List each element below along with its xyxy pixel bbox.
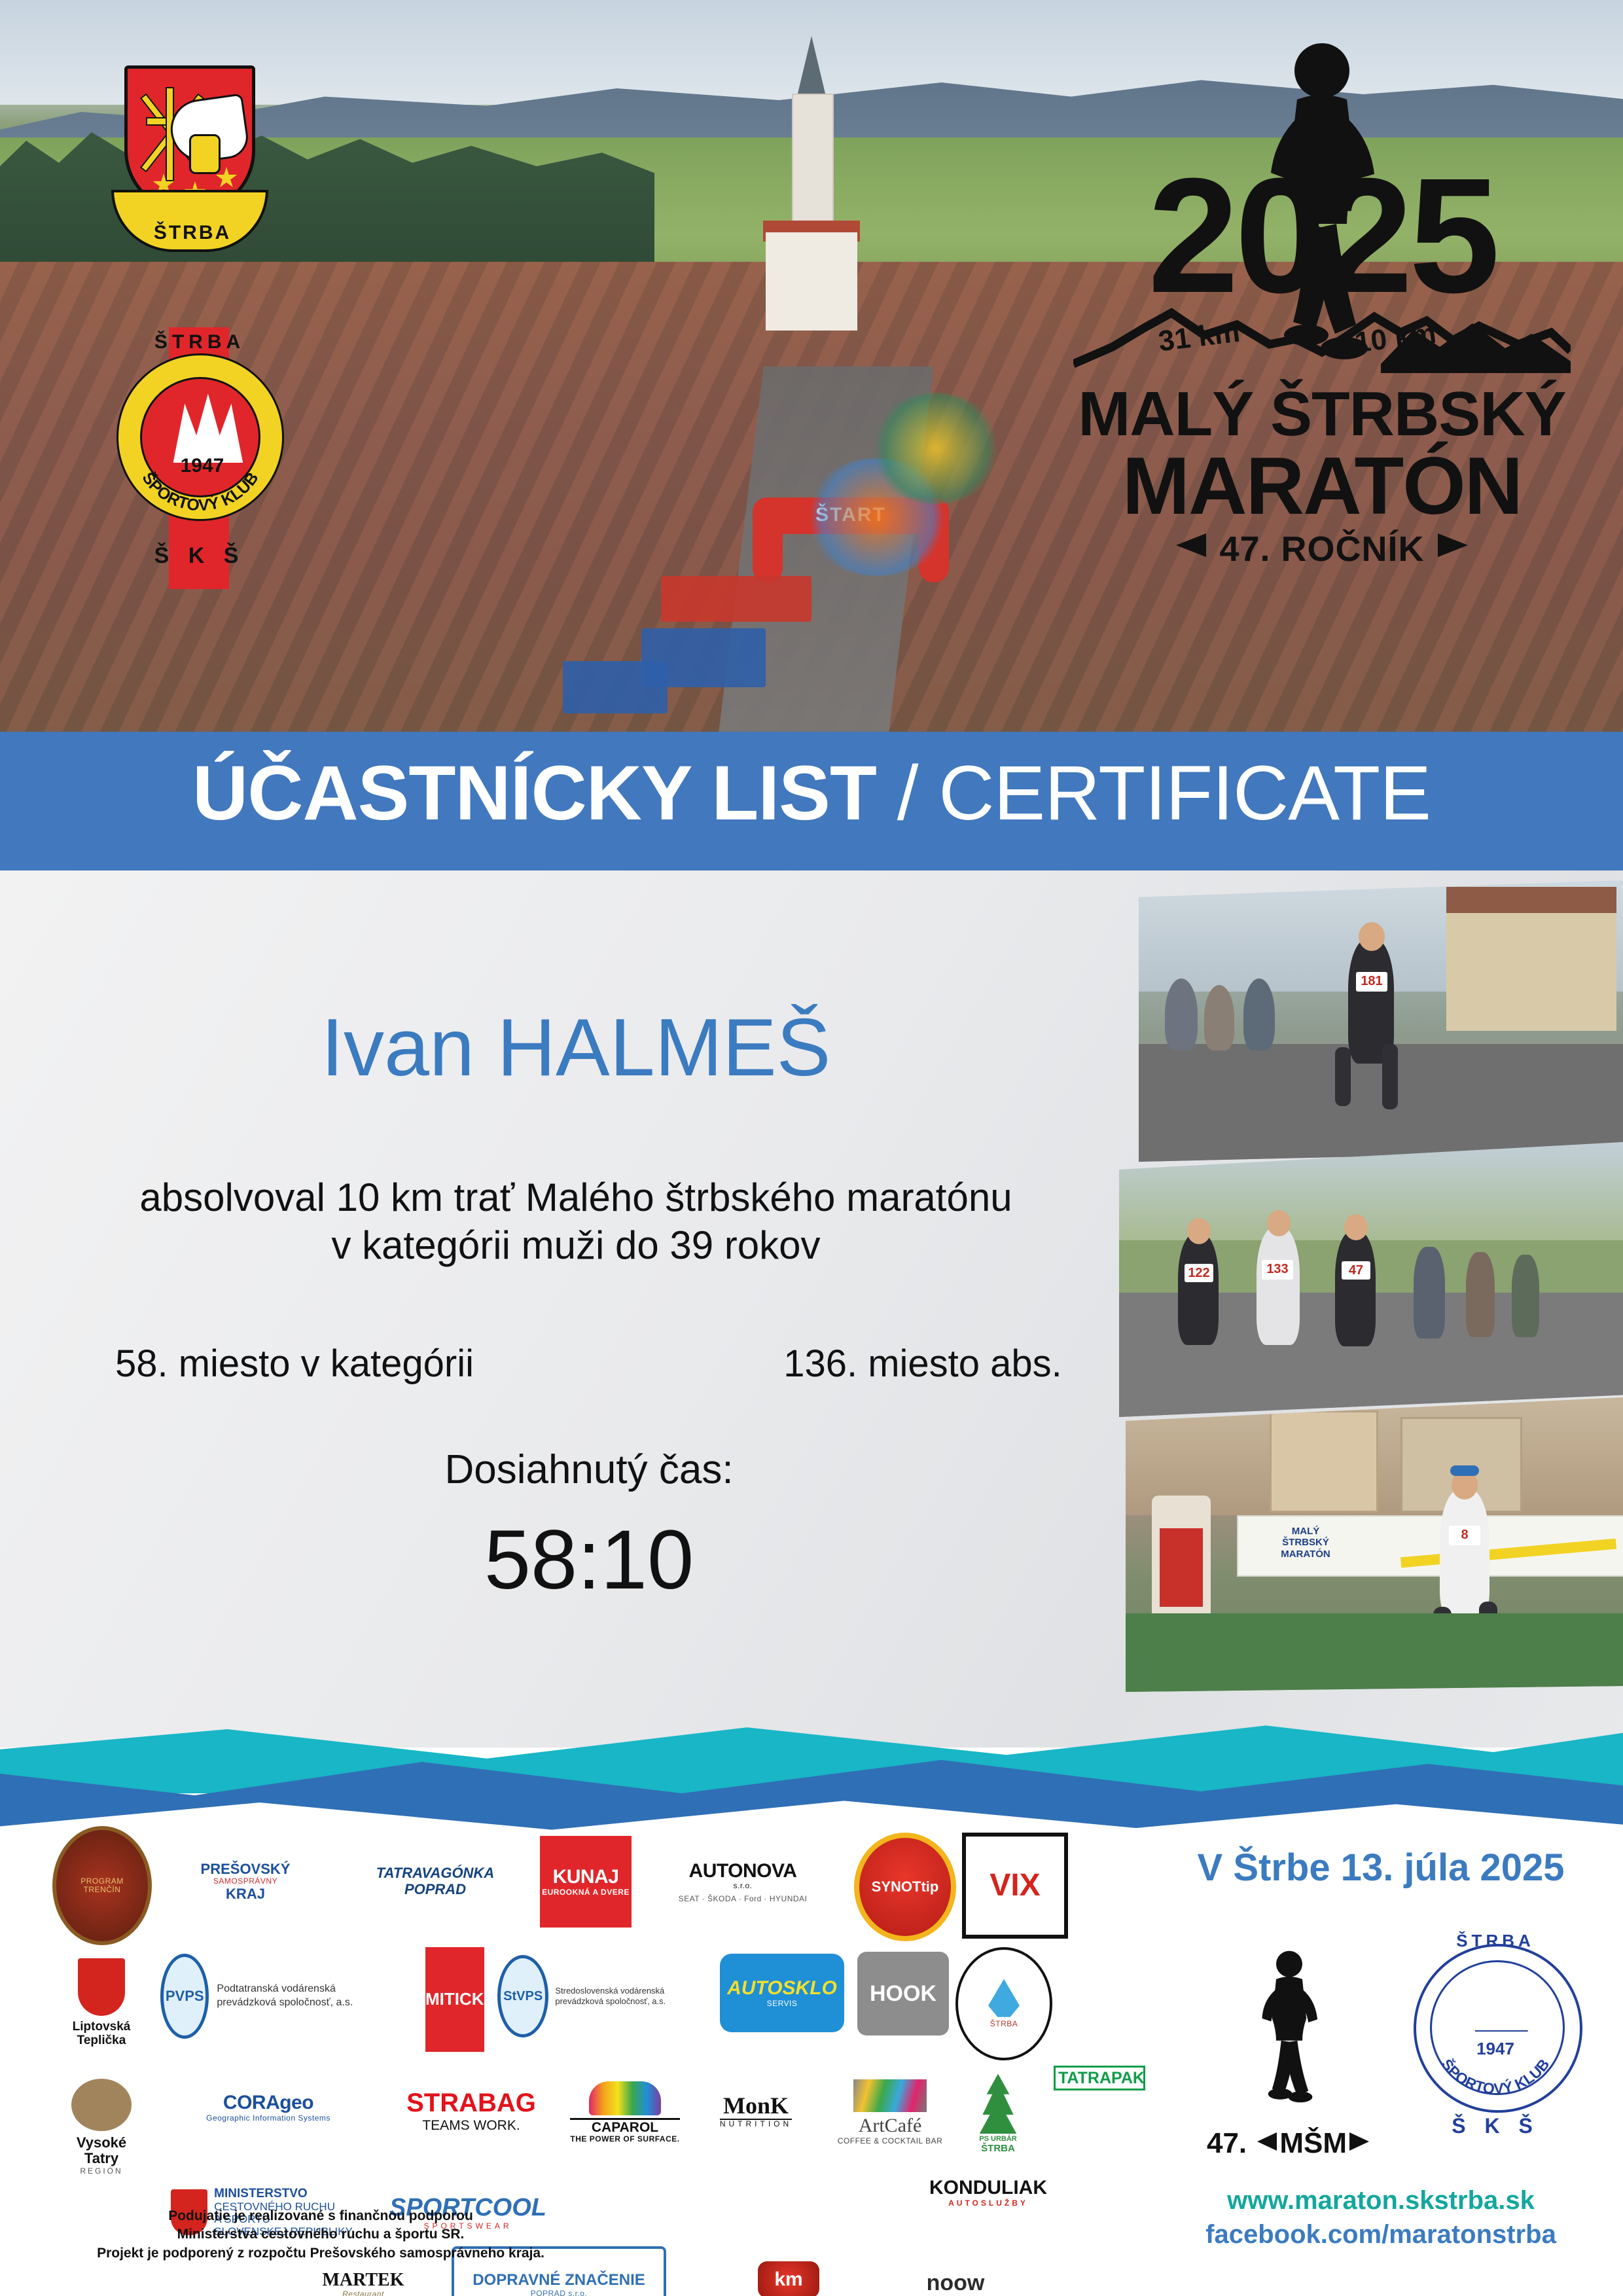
tent <box>661 576 811 622</box>
achievement-line-2: v kategórii muži do 39 rokov <box>0 1223 1152 1268</box>
sponsor-noow: noow <box>897 2250 1014 2296</box>
stamp-bottom-text: Š K Š <box>1400 2114 1590 2138</box>
sponsor-kunaj: KUNAJEUROOKNÁ A DVERE <box>540 1836 632 1928</box>
sponsor-strabag: STRABAG TEAMS WORK. <box>393 2072 550 2150</box>
participant-name: Ivan HALMEŠ <box>0 1001 1152 1094</box>
msm-logo: 47. MŠM <box>1204 1924 1374 2160</box>
mountain-range-icon <box>1073 301 1571 380</box>
sponsor-pvps: PVPS Podtatranská vodárenská prevádzková… <box>160 1950 383 2042</box>
photo-group-runners: 122 133 47 <box>1119 1142 1623 1417</box>
sponsor-autonova: AUTONOVAs.r.o. SEAT · ŠKODA · Ford · HYU… <box>645 1833 841 1931</box>
svg-text:ŠPORTOVÝ KLUB: ŠPORTOVÝ KLUB <box>1438 2055 1552 2097</box>
sponsor-stvps: StVPS Stredoslovenská vodárenská prevádz… <box>497 1950 713 2042</box>
sponsor-corageo: CORAgeo Geographic Information Systems <box>160 2068 376 2147</box>
sponsor-vix: VIX <box>962 1833 1068 1939</box>
event-edition: 47. ROČNÍK <box>1060 529 1584 569</box>
finish-time-value: 58:10 <box>0 1512 1178 1608</box>
sponsor-program-trencin: PROGRAMTRENČÍN <box>52 1826 152 1945</box>
title-separator: / <box>876 750 938 836</box>
club-stamp: 1947 ŠTRBA ŠPORTOVÝ KLUB Š K Š <box>1400 1924 1590 2160</box>
title-bold-part: ÚČASTNÍCKY LIST <box>192 750 876 836</box>
finish-time-label: Dosiahnutý čas: <box>0 1446 1178 1493</box>
sponsor-hook: HOOK <box>857 1952 949 2036</box>
sponsor-liptovska-teplicka: Liptovská Teplička <box>59 1944 144 2062</box>
club-arc-text: ŠPORTOVÝ KLUB <box>116 353 284 521</box>
club-bottom-text: Š K Š <box>111 543 288 569</box>
support-note-line-1: Podujatie je realizované s finančnou pod… <box>59 2207 582 2225</box>
arrow-left-icon <box>1176 533 1206 557</box>
arrow-left-icon <box>1257 2132 1277 2151</box>
date-place: V Štrbe 13. júla 2025 <box>1152 1846 1610 1890</box>
sponsor-presovsky-kraj: PREŠOVSKÝ SAMOSPRÁVNY KRAJ <box>160 1833 330 1931</box>
club-top-text: ŠTRBA <box>111 331 288 353</box>
facebook-url[interactable]: facebook.com/maratonstrba <box>1152 2220 1610 2250</box>
stamp-arc-text: ŠPORTOVÝ KLUB <box>1414 1944 1577 2108</box>
sponsor-pd-strba: ŠTRBA <box>955 1947 1052 2060</box>
page-title: ÚČASTNÍCKY LIST / CERTIFICATE <box>0 749 1623 838</box>
strba-ribbon-text: ŠTRBA <box>114 222 271 244</box>
sponsor-caparol: CAPAROL THE POWER OF SURFACE. <box>566 2068 684 2157</box>
event-title-line2: MARATÓN <box>1060 440 1584 533</box>
website-url[interactable]: www.maraton.skstrba.sk <box>1152 2186 1610 2215</box>
church-icon <box>772 36 851 317</box>
sponsor-ps-urbar-strba: PS URBÁR ŠTRBA <box>955 2065 1041 2163</box>
support-note-line-2: Ministerstva cestovného ruchu a športu S… <box>59 2225 582 2244</box>
sponsor-tatravagonka-poprad: TATRAVAGÓNKA POPRAD <box>344 1836 527 1928</box>
svg-text:ŠPORTOVÝ KLUB: ŠPORTOVÝ KLUB <box>138 468 262 514</box>
photo-finish-line: MALÝŠTRBSKÝMARATÓN 8 <box>1126 1397 1623 1692</box>
sponsor-autosklo-servis: AUTOSKLO SERVIS <box>720 1954 844 2032</box>
event-year: 2025 <box>1060 170 1584 301</box>
arrow-right-icon <box>1349 2132 1369 2151</box>
strba-coat-of-arms: ŠTRBA <box>111 65 268 262</box>
achievement-line-1: absolvoval 10 km trať Malého štrbského m… <box>0 1175 1152 1220</box>
photo-collage: 181 122 133 47 <box>1113 880 1623 1718</box>
event-logo: 2025 31 km 10 km MALÝ ŠTRBSKÝ MARATÓN 47… <box>1060 39 1584 602</box>
place-absolute: 136. miesto abs. <box>720 1342 1126 1386</box>
certificate-page: ŠTART ŠTRBA 19 <box>0 0 1623 2296</box>
support-note-line-3: Projekt je podporený z rozpočtu Prešovsk… <box>59 2244 582 2263</box>
arrow-right-icon <box>1438 533 1468 557</box>
support-note: Podujatie je realizované s finančnou pod… <box>59 2207 582 2263</box>
sponsor-tatrapak: TATRAPAK <box>1054 2049 1145 2108</box>
sponsor-monk-nutrition: MonK NUTRITION <box>694 2072 818 2150</box>
place-in-category: 58. miesto v kategórii <box>92 1342 497 1386</box>
sponsor-artcafe: ArtCafé COFFEE & COCKTAIL BAR <box>828 2067 952 2159</box>
sponsor-km-motocentrum: km motocentrum <box>720 2245 857 2296</box>
sks-club-emblem: 1947 ŠTRBA ŠPORTOVÝ KLUB Š K Š <box>111 327 288 589</box>
sponsor-synot-tip: SYNOTtip <box>854 1833 956 1941</box>
msm-logo-caption: 47. MŠM <box>1204 2127 1374 2160</box>
sponsor-grid: PROGRAMTRENČÍN PREŠOVSKÝ SAMOSPRÁVNY KRA… <box>46 1813 1132 2245</box>
msm-runner-icon <box>1224 1924 1355 2121</box>
sponsor-vysoke-tatry: Vysoké Tatry REGIÓN <box>59 2072 144 2183</box>
sponsor-konduliak: KONDULIAK AUTOSLUŽBY <box>910 2153 1067 2232</box>
crowd <box>870 393 1001 504</box>
tent <box>563 661 668 713</box>
title-light-part: CERTIFICATE <box>938 750 1431 836</box>
sponsor-miticka: MITICKÁ <box>425 1947 484 2052</box>
hero-photo: ŠTART ŠTRBA 19 <box>0 0 1623 759</box>
ribbon: ŠTRBA <box>111 190 268 252</box>
photo-female-finisher: 181 <box>1139 880 1623 1162</box>
